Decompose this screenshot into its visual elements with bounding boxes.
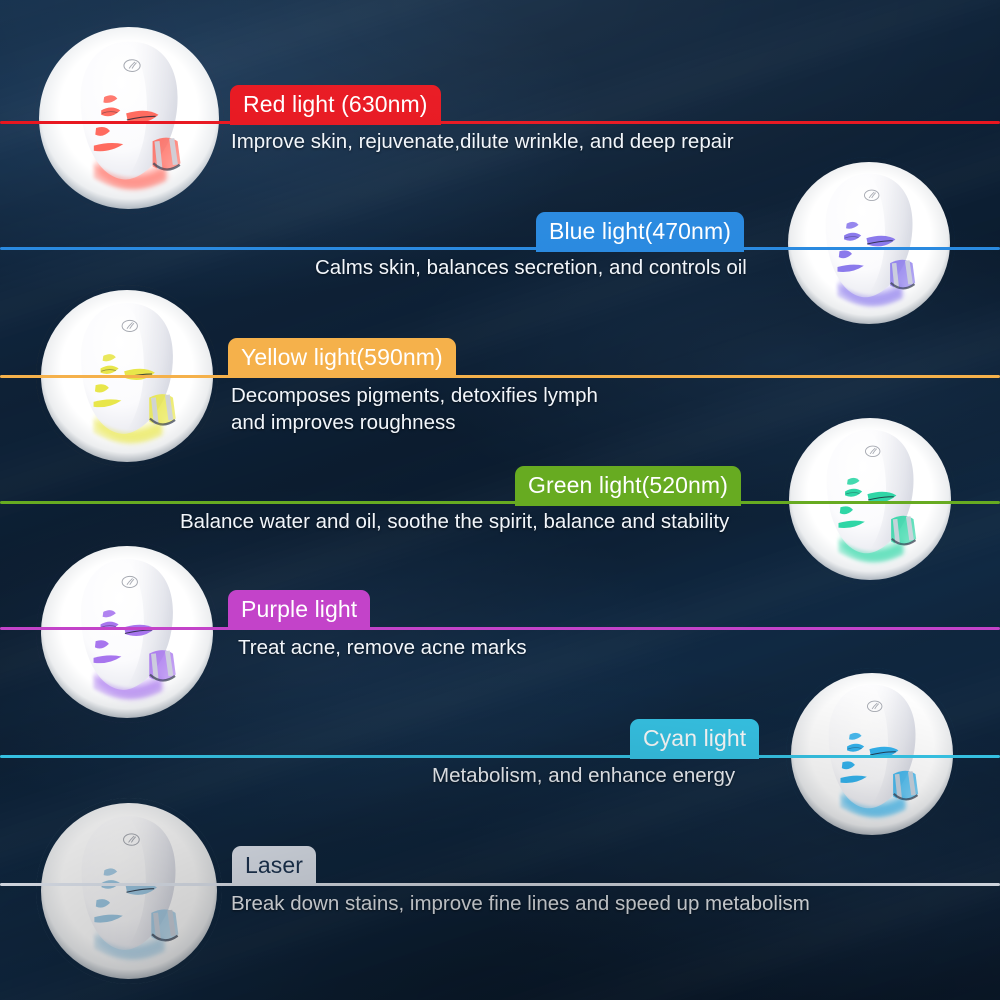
label-red: Red light (630nm)	[230, 85, 441, 125]
description-green: Balance water and oil, soothe the spirit…	[180, 508, 729, 535]
label-green: Green light(520nm)	[515, 466, 741, 506]
led-mask-illustration	[805, 678, 939, 829]
divider-laser	[0, 883, 1000, 886]
divider-cyan	[0, 755, 1000, 758]
mask-photo-purple	[36, 541, 218, 723]
label-cyan: Cyan light	[630, 719, 759, 759]
description-red: Improve skin, rejuvenate,dilute wrinkle,…	[231, 128, 734, 155]
mask-neck-attachment	[893, 771, 918, 800]
mask-circle-green	[784, 413, 956, 585]
led-mask-illustration	[56, 552, 198, 712]
mask-photo-cyan	[786, 668, 958, 840]
divider-blue	[0, 247, 1000, 250]
mask-photo-green	[784, 413, 956, 585]
mask-circle-laser	[36, 798, 222, 984]
divider-red	[0, 121, 1000, 124]
description-blue: Calms skin, balances secretion, and cont…	[315, 254, 747, 281]
label-laser: Laser	[232, 846, 316, 886]
mask-photo-blue	[783, 157, 955, 329]
description-purple: Treat acne, remove acne marks	[238, 634, 527, 661]
divider-purple	[0, 627, 1000, 630]
mask-photo-laser	[36, 798, 222, 984]
label-purple: Purple light	[228, 590, 370, 630]
mask-neck-attachment	[153, 137, 181, 169]
description-cyan: Metabolism, and enhance energy	[432, 762, 735, 789]
mask-neck-attachment	[149, 394, 175, 425]
divider-green	[0, 501, 1000, 504]
mask-neck-attachment	[149, 650, 175, 681]
led-mask-illustration	[56, 809, 201, 973]
description-laser: Break down stains, improve fine lines an…	[231, 890, 810, 917]
mask-circle-blue	[783, 157, 955, 329]
led-mask-illustration	[803, 423, 937, 574]
mask-neck-attachment	[152, 909, 179, 940]
mask-neck-attachment	[891, 516, 916, 545]
divider-yellow	[0, 375, 1000, 378]
infographic-canvas: Red light (630nm) Improve skin, rejuvena…	[0, 0, 1000, 1000]
mask-circle-red	[34, 22, 224, 214]
label-yellow: Yellow light(590nm)	[228, 338, 456, 378]
led-mask-illustration	[55, 34, 203, 203]
mask-photo-red	[34, 22, 224, 214]
description-yellow: Decomposes pigments, detoxifies lymph an…	[231, 382, 598, 436]
mask-circle-purple	[36, 541, 218, 723]
mask-circle-cyan	[786, 668, 958, 840]
led-mask-illustration	[802, 167, 936, 318]
label-blue: Blue light(470nm)	[536, 212, 744, 252]
mask-neck-attachment	[890, 260, 915, 289]
